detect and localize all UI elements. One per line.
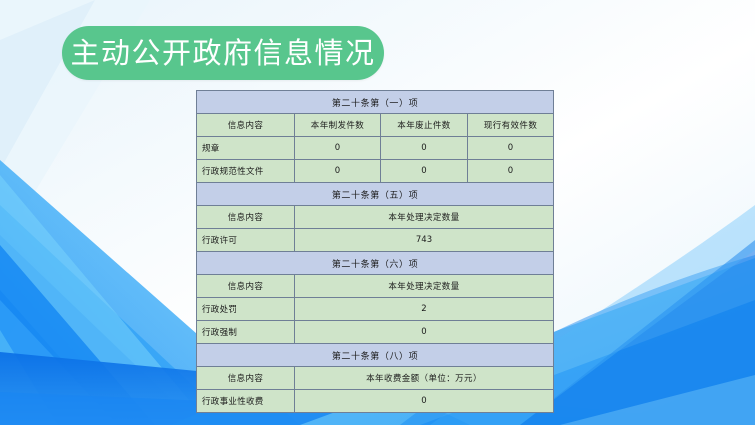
row-value: 0	[295, 390, 554, 413]
column-header-row: 信息内容 本年处理决定数量	[197, 206, 554, 229]
row-value: 0	[295, 160, 381, 183]
row-value: 0	[295, 321, 554, 344]
section-header-label: 第二十条第（六）项	[197, 252, 554, 275]
row-label: 行政许可	[197, 229, 295, 252]
row-label: 规章	[197, 137, 295, 160]
column-header-cell: 本年制发件数	[295, 114, 381, 137]
row-value: 0	[468, 137, 554, 160]
row-label: 行政事业性收费	[197, 390, 295, 413]
page-title: 主动公开政府信息情况	[70, 39, 375, 68]
section-header-row: 第二十条第（一）项	[197, 91, 554, 114]
section-header-row: 第二十条第（五）项	[197, 183, 554, 206]
government-information-table: 第二十条第（一）项 信息内容 本年制发件数 本年废止件数 现行有效件数 规章 0…	[196, 90, 554, 413]
slide-canvas: 主动公开政府信息情况 第二十条第（一）项 信息内容 本年制发件数 本年废止件数 …	[0, 0, 755, 425]
row-label: 行政规范性文件	[197, 160, 295, 183]
column-header-row: 信息内容 本年收费金额（单位：万元）	[197, 367, 554, 390]
column-header-cell: 本年废止件数	[381, 114, 468, 137]
section-header-label: 第二十条第（五）项	[197, 183, 554, 206]
column-header-cell: 本年处理决定数量	[295, 206, 554, 229]
row-value: 0	[381, 160, 468, 183]
row-label: 行政强制	[197, 321, 295, 344]
column-header-row: 信息内容 本年制发件数 本年废止件数 现行有效件数	[197, 114, 554, 137]
column-header-cell: 信息内容	[197, 114, 295, 137]
section-header-label: 第二十条第（一）项	[197, 91, 554, 114]
row-value: 0	[295, 137, 381, 160]
column-header-cell: 本年收费金额（单位：万元）	[295, 367, 554, 390]
table-row: 行政事业性收费 0	[197, 390, 554, 413]
row-value: 0	[381, 137, 468, 160]
info-table-container: 第二十条第（一）项 信息内容 本年制发件数 本年废止件数 现行有效件数 规章 0…	[196, 90, 553, 413]
table-row: 行政许可 743	[197, 229, 554, 252]
row-value: 743	[295, 229, 554, 252]
section-header-label: 第二十条第（八）项	[197, 344, 554, 367]
column-header-row: 信息内容 本年处理决定数量	[197, 275, 554, 298]
column-header-cell: 现行有效件数	[468, 114, 554, 137]
table-body: 第二十条第（一）项 信息内容 本年制发件数 本年废止件数 现行有效件数 规章 0…	[197, 91, 554, 413]
slide-title-pill: 主动公开政府信息情况	[62, 26, 384, 80]
row-value: 2	[295, 298, 554, 321]
column-header-cell: 信息内容	[197, 367, 295, 390]
section-header-row: 第二十条第（六）项	[197, 252, 554, 275]
section-header-row: 第二十条第（八）项	[197, 344, 554, 367]
table-row: 行政规范性文件 0 0 0	[197, 160, 554, 183]
table-row: 行政强制 0	[197, 321, 554, 344]
row-value: 0	[468, 160, 554, 183]
row-label: 行政处罚	[197, 298, 295, 321]
column-header-cell: 信息内容	[197, 275, 295, 298]
column-header-cell: 信息内容	[197, 206, 295, 229]
table-row: 行政处罚 2	[197, 298, 554, 321]
column-header-cell: 本年处理决定数量	[295, 275, 554, 298]
table-row: 规章 0 0 0	[197, 137, 554, 160]
